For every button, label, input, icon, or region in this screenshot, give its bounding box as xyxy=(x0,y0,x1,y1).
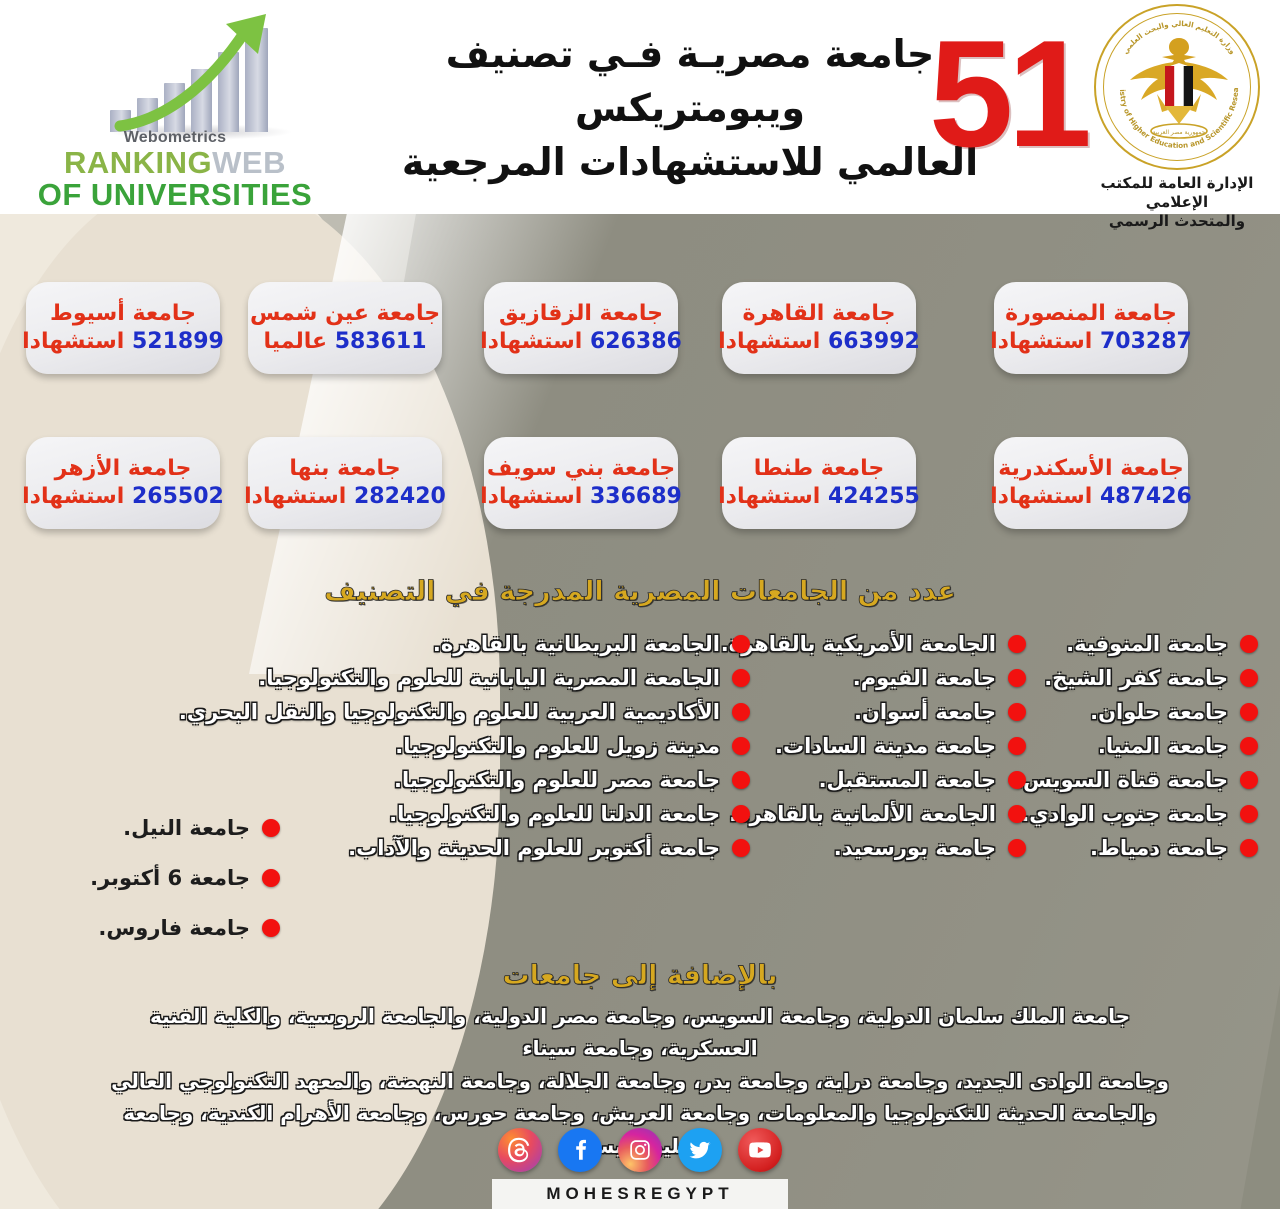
footer-social-bar: MOHESREGYPT xyxy=(0,1128,1280,1209)
bullet-dot-icon xyxy=(1240,737,1258,755)
card-university-name: جامعة طنطا xyxy=(754,456,885,481)
list-item: الأكاديمية العربية للعلوم والتكنولوجيا و… xyxy=(179,700,750,724)
paragraph-line-1: جامعة الملك سلمان الدولية، وجامعة السويس… xyxy=(110,1000,1170,1065)
card-university-name: جامعة بنها xyxy=(289,456,400,481)
card-university-name: جامعة الأسكندرية xyxy=(998,456,1183,481)
list-item-label: الجامعة الأمريكية بالقاهرة. xyxy=(721,632,996,656)
bullet-dot-icon xyxy=(1008,771,1026,789)
university-list-column-middle: الجامعة الأمريكية بالقاهرة. جامعة الفيوم… xyxy=(721,632,1026,870)
card-citation-unit: استشهادا xyxy=(22,329,124,354)
card-citation-unit: استشهادا xyxy=(244,484,346,509)
list-item: الجامعة الألمانية بالقاهرة. xyxy=(721,802,1026,826)
bullet-dot-icon xyxy=(732,839,750,857)
bullet-dot-icon xyxy=(1240,805,1258,823)
list-item-label: مدينة زويل للعلوم والتكنولوجيا. xyxy=(395,734,720,758)
threads-icon[interactable] xyxy=(498,1128,542,1172)
social-handle-bar: MOHESREGYPT xyxy=(492,1179,787,1209)
ranking-word: RANKING xyxy=(64,145,212,180)
list-item: جامعة كفر الشيخ. xyxy=(1015,666,1258,690)
list-item-label: جامعة أسوان. xyxy=(854,700,996,724)
list-item: جامعة المنوفية. xyxy=(1015,632,1258,656)
list-item-label: جامعة الدلتا للعلوم والتكنولوجيا. xyxy=(389,802,720,826)
webometrics-word: Webometrics xyxy=(36,130,314,146)
list-item: جامعة مدينة السادات. xyxy=(721,734,1026,758)
university-list-column-far-left: جامعة النيل. جامعة 6 أكتوبر. جامعة فاروس… xyxy=(90,816,280,966)
list-item-label: جامعة كفر الشيخ. xyxy=(1044,666,1228,690)
instagram-icon[interactable] xyxy=(618,1128,662,1172)
card-citation-line: 626386 استشهادا xyxy=(480,329,682,355)
bar-chart-icon xyxy=(108,12,298,132)
paragraph-line-2: وجامعة الوادى الجديد، وجامعة دراية، وجام… xyxy=(110,1065,1170,1097)
section-heading-additional: بالإضافة إلى جامعات xyxy=(0,960,1280,991)
card-citation-line: 424255 استشهادا xyxy=(718,484,920,510)
card-citation-line: 336689 استشهادا xyxy=(480,484,682,510)
university-citation-cards: جامعة المنصورة 703287 استشهادا جامعة الق… xyxy=(0,282,1280,562)
card-university-name: جامعة بني سويف xyxy=(487,456,675,481)
card-banha: جامعة بنها 282420 استشهادا xyxy=(248,437,442,529)
ministry-logo: وزارة التعليم العالي والبحث العلمي Minis… xyxy=(1084,4,1270,230)
card-assiut: جامعة أسيوط 521899 استشهادا xyxy=(26,282,220,374)
webometrics-wordmark: Webometrics RANKINGWEB OF UNIVERSITIES xyxy=(36,130,314,211)
web-word: WEB xyxy=(212,145,286,180)
bullet-dot-icon xyxy=(262,819,280,837)
card-al-azhar: جامعة الأزهر 265502 استشهادا xyxy=(26,437,220,529)
list-item: جامعة المستقبل. xyxy=(721,768,1026,792)
list-item: جامعة بورسعيد. xyxy=(721,836,1026,860)
bullet-dot-icon xyxy=(262,869,280,887)
list-item: الجامعة الأمريكية بالقاهرة. xyxy=(721,632,1026,656)
list-item-label: جامعة الفيوم. xyxy=(853,666,996,690)
card-citation-unit: استشهادا xyxy=(990,329,1092,354)
card-citation-line: 487426 استشهادا xyxy=(990,484,1192,510)
bullet-dot-icon xyxy=(1240,839,1258,857)
card-cairo: جامعة القاهرة 663992 استشهادا xyxy=(722,282,916,374)
svg-text:جمهورية مصر العربية: جمهورية مصر العربية xyxy=(1153,129,1206,136)
bullet-dot-icon xyxy=(1008,737,1026,755)
card-citation-line: 265502 استشهادا xyxy=(22,484,224,510)
social-handle-text: MOHESREGYPT xyxy=(546,1184,733,1203)
card-citation-count: 282420 xyxy=(354,484,446,509)
ministry-caption: الإدارة العامة للمكتب الإعلامي والمتحدث … xyxy=(1084,174,1270,230)
bullet-dot-icon xyxy=(732,669,750,687)
list-item-label: جامعة جنوب الوادي. xyxy=(1021,802,1228,826)
card-citation-count: 265502 xyxy=(132,484,224,509)
list-item-label: جامعة مصر للعلوم والتكنولوجيا. xyxy=(394,768,720,792)
infographic-page: Webometrics RANKINGWEB OF UNIVERSITIES ج… xyxy=(0,0,1280,1209)
bullet-dot-icon xyxy=(732,635,750,653)
card-citation-line: 282420 استشهادا xyxy=(244,484,446,510)
list-item: الجامعة البريطانية بالقاهرة. xyxy=(179,632,750,656)
card-university-name: جامعة القاهرة xyxy=(743,301,896,326)
card-zagazig: جامعة الزقازيق 626386 استشهادا xyxy=(484,282,678,374)
card-citation-count: 336689 xyxy=(590,484,682,509)
card-ain-shams: جامعة عين شمس 583611 عالميا xyxy=(248,282,442,374)
bullet-dot-icon xyxy=(1240,771,1258,789)
bullet-dot-icon xyxy=(1008,839,1026,857)
list-item-label: جامعة المستقبل. xyxy=(819,768,996,792)
list-item-label: جامعة بورسعيد. xyxy=(834,836,996,860)
bullet-dot-icon xyxy=(1008,669,1026,687)
rank-number: 51 xyxy=(929,18,1086,170)
list-item-label: جامعة المنيا. xyxy=(1098,734,1228,758)
list-item: جامعة أسوان. xyxy=(721,700,1026,724)
card-citation-unit: استشهادا xyxy=(480,484,582,509)
bullet-dot-icon xyxy=(1008,635,1026,653)
card-citation-count: 626386 xyxy=(590,329,682,354)
list-item: جامعة المنيا. xyxy=(1015,734,1258,758)
card-citation-unit: استشهادا xyxy=(990,484,1092,509)
bullet-dot-icon xyxy=(732,771,750,789)
list-item-label: جامعة النيل. xyxy=(123,816,250,840)
card-citation-line: 521899 استشهادا xyxy=(22,329,224,355)
webometrics-logo: Webometrics RANKINGWEB OF UNIVERSITIES xyxy=(36,6,314,206)
card-university-name: جامعة الأزهر xyxy=(55,456,192,481)
list-item: جامعة 6 أكتوبر. xyxy=(90,866,280,890)
social-icons-row xyxy=(498,1128,782,1172)
svg-text:وزارة التعليم العالي والبحث ال: وزارة التعليم العالي والبحث العلمي xyxy=(1121,19,1238,56)
list-item: جامعة فاروس. xyxy=(90,916,280,940)
title-line-1: جامعة مصريـة فـي تصنيف ويبومتريكس xyxy=(390,28,990,136)
twitter-icon[interactable] xyxy=(678,1128,722,1172)
ministry-caption-line-2: والمتحدث الرسمي xyxy=(1084,212,1270,231)
list-item: الجامعة المصرية اليابانية للعلوم والتكنو… xyxy=(179,666,750,690)
card-alexandria: جامعة الأسكندرية 487426 استشهادا xyxy=(994,437,1188,529)
card-university-name: جامعة الزقازيق xyxy=(499,301,663,326)
list-item-label: الأكاديمية العربية للعلوم والتكنولوجيا و… xyxy=(179,700,720,724)
bullet-dot-icon xyxy=(1240,703,1258,721)
list-item: جامعة النيل. xyxy=(90,816,280,840)
list-item: جامعة حلوان. xyxy=(1015,700,1258,724)
bullet-dot-icon xyxy=(1008,805,1026,823)
list-item-label: جامعة حلوان. xyxy=(1090,700,1228,724)
green-growth-arrow-icon xyxy=(108,8,303,136)
eagle-emblem-icon: جمهورية مصر العربية xyxy=(1124,32,1234,144)
bullet-dot-icon xyxy=(732,703,750,721)
bullet-dot-icon xyxy=(262,919,280,937)
list-item-label: جامعة مدينة السادات. xyxy=(775,734,996,758)
list-item: مدينة زويل للعلوم والتكنولوجيا. xyxy=(179,734,750,758)
ministry-caption-line-1: الإدارة العامة للمكتب الإعلامي xyxy=(1084,174,1270,212)
facebook-icon[interactable] xyxy=(558,1128,602,1172)
card-citation-unit: عالميا xyxy=(263,329,327,354)
card-citation-count: 521899 xyxy=(132,329,224,354)
university-list-column-right: جامعة المنوفية. جامعة كفر الشيخ. جامعة ح… xyxy=(1015,632,1258,870)
card-citation-count: 487426 xyxy=(1100,484,1192,509)
card-tanta: جامعة طنطا 424255 استشهادا xyxy=(722,437,916,529)
ranking-web-words: RANKINGWEB xyxy=(36,147,314,179)
card-mansoura: جامعة المنصورة 703287 استشهادا xyxy=(994,282,1188,374)
youtube-icon[interactable] xyxy=(738,1128,782,1172)
title-line-2: العالمي للاستشهادات المرجعية xyxy=(390,136,990,190)
list-item: جامعة جنوب الوادي. xyxy=(1015,802,1258,826)
card-citation-unit: استشهادا xyxy=(718,329,820,354)
card-citation-line: 583611 عالميا xyxy=(263,329,426,355)
bullet-dot-icon xyxy=(732,737,750,755)
of-universities-word: OF UNIVERSITIES xyxy=(36,179,314,211)
list-item-label: الجامعة البريطانية بالقاهرة. xyxy=(433,632,720,656)
header-band: Webometrics RANKINGWEB OF UNIVERSITIES ج… xyxy=(0,0,1280,214)
list-item-label: جامعة قناة السويس. xyxy=(1015,768,1228,792)
card-citation-unit: استشهادا xyxy=(22,484,124,509)
card-beni-suef: جامعة بني سويف 336689 استشهادا xyxy=(484,437,678,529)
card-citation-count: 583611 xyxy=(335,329,427,354)
bullet-dot-icon xyxy=(732,805,750,823)
list-item-label: جامعة أكتوبر للعلوم الحديثة والآداب. xyxy=(348,836,720,860)
card-citation-line: 663992 استشهادا xyxy=(718,329,920,355)
emblem-ring-text: وزارة التعليم العالي والبحث العلمي Minis… xyxy=(1096,6,1262,172)
bullet-dot-icon xyxy=(1240,635,1258,653)
bullet-dot-icon xyxy=(1008,703,1026,721)
ministry-emblem-ring: وزارة التعليم العالي والبحث العلمي Minis… xyxy=(1094,4,1260,170)
card-citation-unit: استشهادا xyxy=(480,329,582,354)
list-item-label: الجامعة المصرية اليابانية للعلوم والتكنو… xyxy=(258,666,720,690)
list-item-label: جامعة دمياط. xyxy=(1090,836,1228,860)
list-item: جامعة دمياط. xyxy=(1015,836,1258,860)
card-university-name: جامعة المنصورة xyxy=(1005,301,1177,326)
card-university-name: جامعة عين شمس xyxy=(250,301,440,326)
card-citation-count: 663992 xyxy=(828,329,920,354)
svg-text:Ministry of Higher Education a: Ministry of Higher Education and Scienti… xyxy=(1096,6,1240,150)
list-item-label: جامعة 6 أكتوبر. xyxy=(90,866,250,890)
card-citation-count: 424255 xyxy=(828,484,920,509)
list-item: جامعة الفيوم. xyxy=(721,666,1026,690)
card-citation-line: 703287 استشهادا xyxy=(990,329,1192,355)
bullet-dot-icon xyxy=(1240,669,1258,687)
section-heading-included: عدد من الجامعات المصرية المدرجة في التصن… xyxy=(0,576,1280,607)
list-item-label: جامعة المنوفية. xyxy=(1066,632,1228,656)
card-citation-unit: استشهادا xyxy=(718,484,820,509)
page-title: جامعة مصريـة فـي تصنيف ويبومتريكس العالم… xyxy=(390,28,990,190)
list-item: جامعة مصر للعلوم والتكنولوجيا. xyxy=(179,768,750,792)
card-university-name: جامعة أسيوط xyxy=(50,301,196,326)
list-item: جامعة قناة السويس. xyxy=(1015,768,1258,792)
list-item-label: الجامعة الألمانية بالقاهرة. xyxy=(729,802,996,826)
list-item-label: جامعة فاروس. xyxy=(98,916,250,940)
card-citation-count: 703287 xyxy=(1100,329,1192,354)
